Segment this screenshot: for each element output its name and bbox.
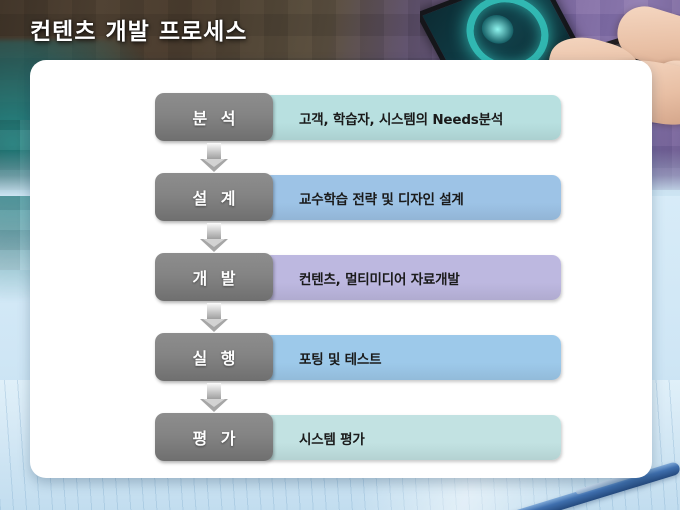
arrow-stem	[207, 383, 221, 400]
label-text-development: 개 발	[188, 265, 239, 289]
page-title: 컨텐츠 개발 프로세스	[30, 12, 247, 46]
label-box-evaluation[interactable]: 평 가	[155, 413, 273, 461]
label-text-evaluation: 평 가	[188, 425, 239, 449]
label-box-development[interactable]: 개 발	[155, 253, 273, 301]
slide-canvas: 컨텐츠 개발 프로세스 고객, 학습자, 시스템의 Needs분석 분 석	[0, 0, 680, 510]
content-card: 고객, 학습자, 시스템의 Needs분석 분 석 교수학습 전략 및 디자인 …	[30, 60, 652, 478]
arrow-down-icon-1	[200, 143, 228, 173]
arrow-down-icon-3	[200, 303, 228, 333]
label-box-design[interactable]: 설 계	[155, 173, 273, 221]
arrow-stem	[207, 303, 221, 320]
arrow-stem	[207, 143, 221, 160]
flow-step-analysis: 고객, 학습자, 시스템의 Needs분석 분 석	[155, 93, 535, 141]
arrow-head-highlight	[203, 319, 225, 327]
label-box-analysis[interactable]: 분 석	[155, 93, 273, 141]
label-text-analysis: 분 석	[188, 105, 239, 129]
content-text-analysis: 고객, 학습자, 시스템의 Needs분석	[299, 108, 503, 128]
label-box-implementation[interactable]: 실 행	[155, 333, 273, 381]
content-box-design[interactable]: 교수학습 전략 및 디자인 설계	[263, 175, 561, 220]
content-text-evaluation: 시스템 평가	[299, 428, 365, 448]
content-text-design: 교수학습 전략 및 디자인 설계	[299, 188, 464, 208]
arrow-head-highlight	[203, 239, 225, 247]
content-text-development: 컨텐츠, 멀티미디어 자료개발	[299, 268, 460, 288]
content-text-implementation: 포팅 및 테스트	[299, 348, 381, 368]
process-flow: 고객, 학습자, 시스템의 Needs분석 분 석 교수학습 전략 및 디자인 …	[155, 93, 535, 461]
content-box-development[interactable]: 컨텐츠, 멀티미디어 자료개발	[263, 255, 561, 300]
flow-step-development: 컨텐츠, 멀티미디어 자료개발 개 발	[155, 253, 535, 301]
flow-step-design: 교수학습 전략 및 디자인 설계 설 계	[155, 173, 535, 221]
arrow-down-icon-4	[200, 383, 228, 413]
label-text-design: 설 계	[188, 185, 239, 209]
content-box-analysis[interactable]: 고객, 학습자, 시스템의 Needs분석	[263, 95, 561, 140]
arrow-down-icon-2	[200, 223, 228, 253]
arrow-head-highlight	[203, 159, 225, 167]
flow-step-evaluation: 시스템 평가 평 가	[155, 413, 535, 461]
flow-step-implementation: 포팅 및 테스트 실 행	[155, 333, 535, 381]
label-text-implementation: 실 행	[188, 345, 239, 369]
arrow-head-highlight	[203, 399, 225, 407]
arrow-stem	[207, 223, 221, 240]
content-box-evaluation[interactable]: 시스템 평가	[263, 415, 561, 460]
content-box-implementation[interactable]: 포팅 및 테스트	[263, 335, 561, 380]
